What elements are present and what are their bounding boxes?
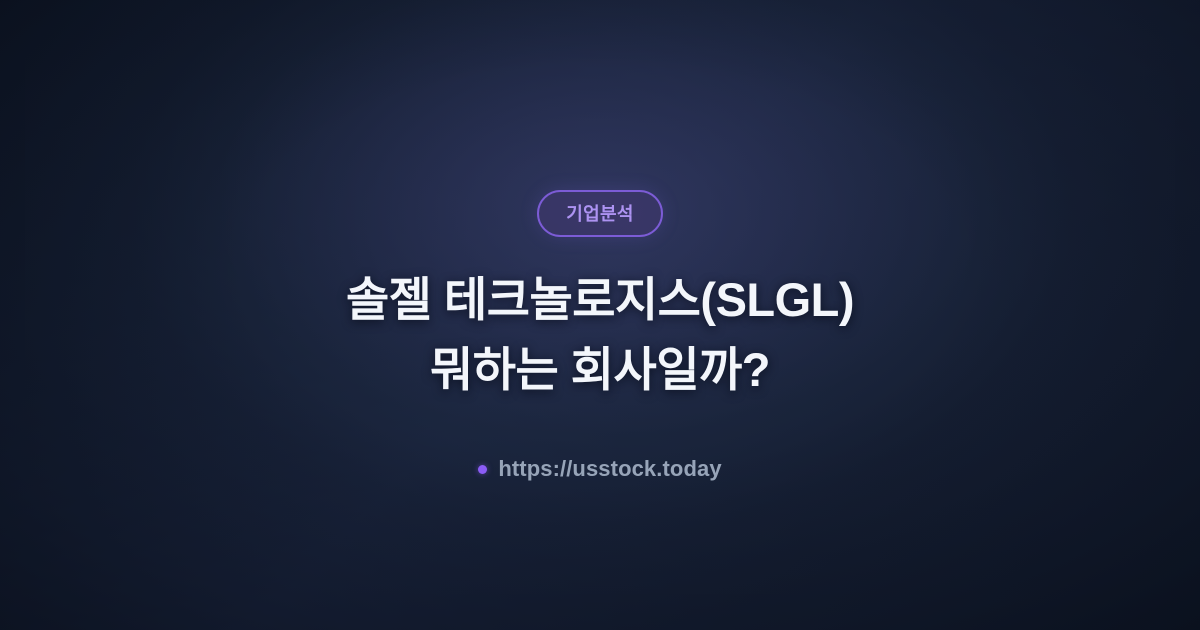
page-title: 솔젤 테크놀로지스(SLGL) 뭐하는 회사일까? [346, 265, 854, 405]
category-badge-label: 기업분석 [566, 205, 633, 223]
page-title-line-2: 뭐하는 회사일까? [346, 335, 854, 405]
site-url-label: https://usstock.today [498, 458, 721, 480]
page-title-line-1: 솔젤 테크놀로지스(SLGL) [346, 265, 854, 335]
bullet-dot-icon [478, 465, 487, 474]
site-url[interactable]: https://usstock.today [478, 458, 721, 480]
card-content: 기업분석 솔젤 테크놀로지스(SLGL) 뭐하는 회사일까? https://u… [0, 0, 1200, 630]
og-preview-card: 기업분석 솔젤 테크놀로지스(SLGL) 뭐하는 회사일까? https://u… [0, 0, 1200, 630]
category-badge[interactable]: 기업분석 [537, 190, 662, 237]
